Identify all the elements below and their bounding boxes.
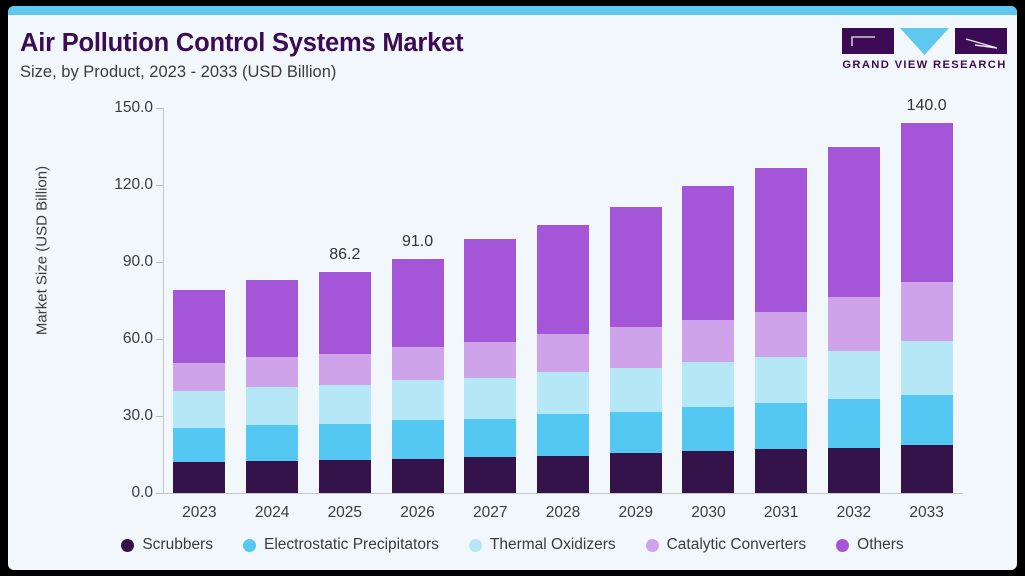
bar-segment-others[interactable] <box>610 207 662 328</box>
y-axis-title: Market Size (USD Billion) <box>34 121 51 381</box>
bar-segment-thermal-oxidizers[interactable] <box>755 357 807 403</box>
chart-legend: ScrubbersElectrostatic PrecipitatorsTher… <box>8 536 1017 554</box>
bar-2031[interactable] <box>755 168 807 493</box>
x-axis-tick-label: 2028 <box>527 504 600 522</box>
legend-item-electrostatic-precipitators[interactable]: Electrostatic Precipitators <box>243 536 439 554</box>
x-axis-tick-label: 2026 <box>381 504 454 522</box>
bar-segment-catalytic-converters[interactable] <box>828 297 880 351</box>
bar-segment-electrostatic-precipitators[interactable] <box>246 425 298 461</box>
legend-label: Catalytic Converters <box>667 536 807 554</box>
chart-card: Air Pollution Control Systems Market Siz… <box>8 6 1017 570</box>
bar-segment-others[interactable] <box>537 225 589 335</box>
bar-segment-scrubbers[interactable] <box>901 445 953 493</box>
bar-segment-catalytic-converters[interactable] <box>537 334 589 371</box>
bar-segment-others[interactable] <box>755 168 807 312</box>
bar-segment-scrubbers[interactable] <box>755 449 807 493</box>
legend-swatch-icon <box>646 539 659 552</box>
bar-segment-others[interactable] <box>901 123 953 281</box>
y-axis-tick-mark <box>156 416 163 417</box>
x-axis-tick-label: 2031 <box>745 504 818 522</box>
bar-segment-others[interactable] <box>828 147 880 298</box>
bar-segment-electrostatic-precipitators[interactable] <box>392 420 444 458</box>
bar-segment-others[interactable] <box>682 186 734 319</box>
x-axis-line <box>163 493 963 494</box>
legend-swatch-icon <box>121 539 134 552</box>
y-axis-tick-label: 0.0 <box>83 484 153 502</box>
bar-segment-electrostatic-precipitators[interactable] <box>682 407 734 451</box>
bar-segment-others[interactable] <box>392 259 444 347</box>
legend-swatch-icon <box>243 539 256 552</box>
y-axis-line <box>163 108 164 493</box>
y-axis-tick-label: 90.0 <box>83 253 153 271</box>
legend-item-catalytic-converters[interactable]: Catalytic Converters <box>646 536 807 554</box>
y-axis-tick-label: 120.0 <box>83 176 153 194</box>
legend-swatch-icon <box>469 539 482 552</box>
bar-segment-scrubbers[interactable] <box>610 453 662 493</box>
legend-label: Scrubbers <box>142 536 213 554</box>
x-axis-tick-label: 2025 <box>308 504 381 522</box>
bar-segment-thermal-oxidizers[interactable] <box>319 385 371 423</box>
bar-segment-scrubbers[interactable] <box>682 451 734 493</box>
bar-2027[interactable] <box>464 239 516 493</box>
y-axis-tick-mark <box>156 262 163 263</box>
bar-segment-catalytic-converters[interactable] <box>173 363 225 391</box>
bar-segment-scrubbers[interactable] <box>537 456 589 493</box>
bar-2025[interactable] <box>319 272 371 493</box>
bar-segment-electrostatic-precipitators[interactable] <box>173 428 225 462</box>
bar-segment-thermal-oxidizers[interactable] <box>828 351 880 399</box>
bar-segment-thermal-oxidizers[interactable] <box>246 387 298 425</box>
bar-segment-catalytic-converters[interactable] <box>755 312 807 357</box>
bar-2026[interactable] <box>392 259 444 493</box>
y-axis-tick-mark <box>156 493 163 494</box>
bar-segment-thermal-oxidizers[interactable] <box>682 362 734 407</box>
x-axis-tick-label: 2027 <box>454 504 527 522</box>
bar-segment-catalytic-converters[interactable] <box>392 347 444 380</box>
bar-2030[interactable] <box>682 186 734 493</box>
legend-label: Thermal Oxidizers <box>490 536 616 554</box>
bar-2023[interactable] <box>173 290 225 493</box>
bar-segment-others[interactable] <box>464 239 516 342</box>
bar-segment-others[interactable] <box>246 280 298 358</box>
bar-segment-catalytic-converters[interactable] <box>901 282 953 341</box>
bar-segment-electrostatic-precipitators[interactable] <box>464 419 516 457</box>
bar-2024[interactable] <box>246 280 298 493</box>
bar-segment-electrostatic-precipitators[interactable] <box>610 412 662 453</box>
x-axis-tick-label: 2033 <box>890 504 963 522</box>
legend-item-scrubbers[interactable]: Scrubbers <box>121 536 213 554</box>
bar-segment-scrubbers[interactable] <box>464 457 516 493</box>
x-axis-tick-label: 2029 <box>599 504 672 522</box>
bar-segment-scrubbers[interactable] <box>319 460 371 493</box>
bar-segment-catalytic-converters[interactable] <box>246 357 298 387</box>
stacked-bar-chart: Market Size (USD Billion) 0.030.060.090.… <box>8 6 1017 570</box>
x-axis-tick-label: 2024 <box>236 504 309 522</box>
bar-segment-thermal-oxidizers[interactable] <box>392 380 444 420</box>
y-axis-tick-mark <box>156 185 163 186</box>
bar-segment-scrubbers[interactable] <box>392 459 444 493</box>
bar-segment-others[interactable] <box>319 272 371 354</box>
bar-segment-thermal-oxidizers[interactable] <box>610 368 662 412</box>
y-axis-tick-mark <box>156 108 163 109</box>
bar-2032[interactable] <box>828 147 880 494</box>
legend-item-thermal-oxidizers[interactable]: Thermal Oxidizers <box>469 536 616 554</box>
bar-segment-thermal-oxidizers[interactable] <box>537 372 589 414</box>
x-axis-tick-label: 2030 <box>672 504 745 522</box>
y-axis-tick-label: 60.0 <box>83 330 153 348</box>
bar-segment-thermal-oxidizers[interactable] <box>464 378 516 419</box>
bar-segment-electrostatic-precipitators[interactable] <box>901 395 953 446</box>
bar-segment-scrubbers[interactable] <box>828 448 880 493</box>
bar-segment-thermal-oxidizers[interactable] <box>901 341 953 395</box>
y-axis-tick-label: 30.0 <box>83 407 153 425</box>
bar-2033[interactable] <box>901 123 953 493</box>
legend-label: Electrostatic Precipitators <box>264 536 439 554</box>
bar-2029[interactable] <box>610 207 662 493</box>
bar-segment-electrostatic-precipitators[interactable] <box>319 424 371 460</box>
bar-segment-electrostatic-precipitators[interactable] <box>755 403 807 449</box>
legend-label: Others <box>857 536 904 554</box>
bar-segment-scrubbers[interactable] <box>173 462 225 493</box>
bar-segment-scrubbers[interactable] <box>246 461 298 493</box>
bar-segment-catalytic-converters[interactable] <box>319 354 371 385</box>
bar-value-label-2026: 91.0 <box>358 233 478 251</box>
x-axis-tick-label: 2032 <box>818 504 891 522</box>
bar-segment-catalytic-converters[interactable] <box>682 320 734 363</box>
bar-segment-electrostatic-precipitators[interactable] <box>828 399 880 448</box>
bar-segment-catalytic-converters[interactable] <box>610 327 662 367</box>
bar-segment-thermal-oxidizers[interactable] <box>173 391 225 428</box>
bar-value-label-2033: 140.0 <box>867 97 987 115</box>
bar-segment-electrostatic-precipitators[interactable] <box>537 414 589 455</box>
legend-swatch-icon <box>836 539 849 552</box>
x-axis-tick-label: 2023 <box>163 504 236 522</box>
bar-segment-others[interactable] <box>173 290 225 363</box>
bar-segment-catalytic-converters[interactable] <box>464 342 516 377</box>
y-axis-tick-label: 150.0 <box>83 99 153 117</box>
bar-2028[interactable] <box>537 225 589 493</box>
legend-item-others[interactable]: Others <box>836 536 904 554</box>
y-axis-tick-mark <box>156 339 163 340</box>
